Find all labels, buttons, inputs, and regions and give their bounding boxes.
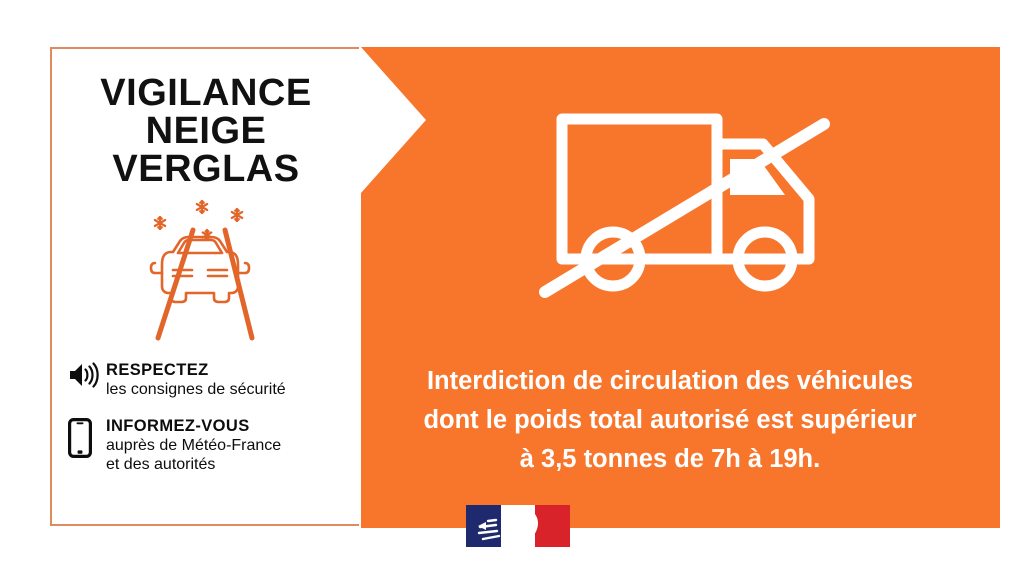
main-message: Interdiction de circulation des véhicule… bbox=[368, 362, 972, 479]
smartphone-icon bbox=[68, 416, 106, 458]
advice-heading: RESPECTEZ bbox=[106, 360, 286, 380]
advice-text-respectez: RESPECTEZ les consignes de sécurité bbox=[106, 360, 286, 400]
advice-text-informez-vous: INFORMEZ-VOUS auprès de Météo-France et … bbox=[106, 416, 281, 475]
advice-item-informez-vous: INFORMEZ-VOUS auprès de Météo-France et … bbox=[68, 416, 358, 475]
advice-list: RESPECTEZ les consignes de sécurité INFO… bbox=[68, 360, 358, 491]
advice-item-respectez: RESPECTEZ les consignes de sécurité bbox=[68, 360, 358, 400]
alert-title-line-3: VERGLAS bbox=[56, 150, 356, 188]
message-line-1: Interdiction de circulation des véhicule… bbox=[368, 362, 972, 401]
vigilance-alert-graphic: VIGILANCE NEIGE VERGLAS bbox=[0, 0, 1024, 576]
alert-title-line-2: NEIGE bbox=[56, 112, 356, 150]
speaker-icon bbox=[68, 360, 106, 388]
message-line-2: dont le poids total autorisé est supérie… bbox=[368, 401, 972, 440]
advice-detail-line: et des autorités bbox=[106, 455, 281, 475]
marianne-french-republic-logo bbox=[466, 505, 570, 547]
alert-title: VIGILANCE NEIGE VERGLAS bbox=[56, 74, 356, 188]
alert-title-line-1: VIGILANCE bbox=[56, 74, 356, 112]
advice-heading: INFORMEZ-VOUS bbox=[106, 416, 281, 436]
message-line-3: à 3,5 tonnes de 7h à 19h. bbox=[368, 440, 972, 479]
advice-detail-line: les consignes de sécurité bbox=[106, 380, 286, 400]
advice-detail-line: auprès de Météo-France bbox=[106, 436, 281, 456]
car-on-snowy-road-icon bbox=[140, 193, 290, 343]
truck-prohibited-icon bbox=[527, 92, 847, 322]
